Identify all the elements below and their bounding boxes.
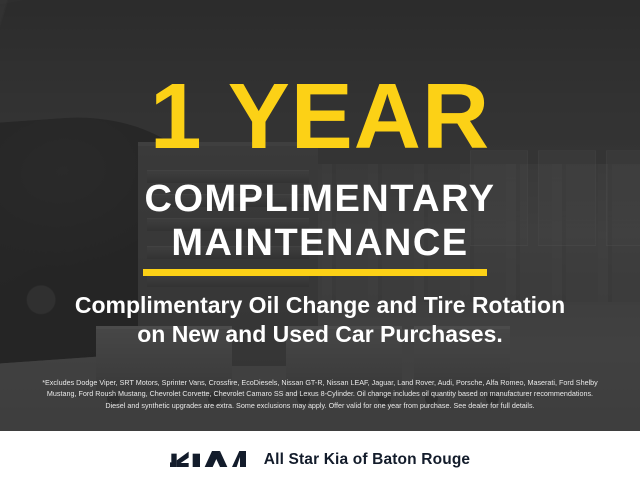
yellow-divider-rule	[143, 269, 487, 276]
offer-description-line-2: on New and Used Car Purchases.	[0, 320, 640, 349]
dealer-name: All Star Kia of Baton Rouge	[264, 451, 470, 469]
disclaimer-line: Mustang, Ford Roush Mustang, Chevrolet C…	[14, 388, 626, 399]
headline-maintenance: MAINTENANCE	[0, 224, 640, 262]
offer-description-line-1: Complimentary Oil Change and Tire Rotati…	[0, 291, 640, 320]
disclaimer-text: *Excludes Dodge Viper, SRT Motors, Sprin…	[14, 377, 626, 411]
hero-copy: 1 YEAR COMPLIMENTARY MAINTENANCE Complim…	[0, 0, 640, 431]
disclaimer-line: *Excludes Dodge Viper, SRT Motors, Sprin…	[14, 377, 626, 388]
hero-section: 1 YEAR COMPLIMENTARY MAINTENANCE Complim…	[0, 0, 640, 431]
dealer-footer: All Star Kia of Baton Rouge	[0, 431, 640, 488]
disclaimer-line: Diesel and synthetic upgrades are extra.…	[14, 400, 626, 411]
headline-complimentary: COMPLIMENTARY	[0, 180, 640, 218]
promotional-banner: 1 YEAR COMPLIMENTARY MAINTENANCE Complim…	[0, 0, 640, 488]
kia-logo	[170, 449, 246, 471]
headline-duration: 1 YEAR	[0, 70, 640, 163]
